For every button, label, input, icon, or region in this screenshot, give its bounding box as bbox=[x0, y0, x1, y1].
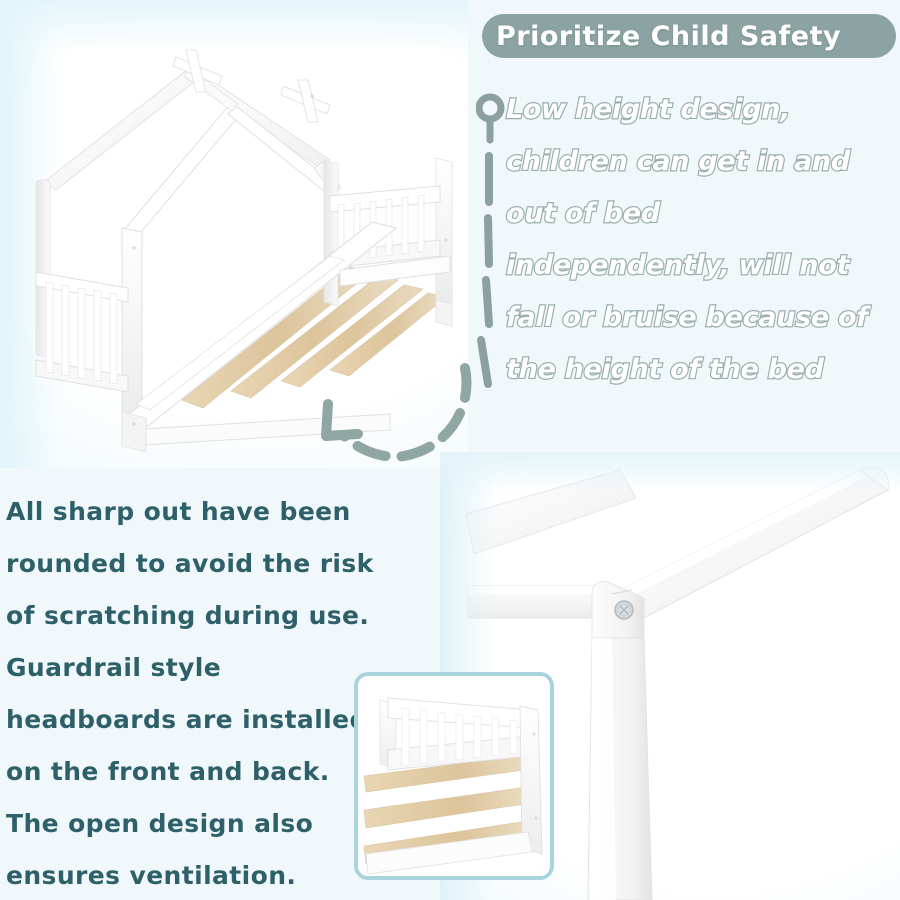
title-banner: Prioritize Child Safety bbox=[482, 14, 896, 58]
right-text-line: fall or bruise because of bbox=[506, 292, 898, 344]
right-text-line: Low height design, bbox=[506, 84, 898, 136]
left-text-line: of scratching during use. bbox=[6, 590, 366, 642]
left-text-line: The open design also bbox=[6, 798, 366, 850]
right-text-block: Low height design, children can get in a… bbox=[506, 84, 898, 396]
right-text-line: the height of the bed bbox=[506, 344, 898, 396]
left-text-line: Guardrail style bbox=[6, 642, 366, 694]
left-text-block: All sharp out have been rounded to avoid… bbox=[6, 486, 366, 900]
infographic-page: Prioritize Child Safety Low height desig… bbox=[0, 0, 900, 900]
left-text-line: headboards are installed bbox=[6, 694, 366, 746]
timeline-dashes bbox=[481, 156, 489, 384]
right-text-line: independently, will not bbox=[506, 240, 898, 292]
location-pin-icon bbox=[476, 92, 510, 422]
left-text-line: All sharp out have been bbox=[6, 486, 366, 538]
left-text-line: on the front and back. bbox=[6, 746, 366, 798]
left-text-line: ensures ventilation. bbox=[6, 850, 366, 900]
right-text-line: children can get in and bbox=[506, 136, 898, 188]
detail-top-tint bbox=[440, 452, 900, 492]
pin-timeline bbox=[476, 92, 510, 422]
guardrail-inset-thumbnail bbox=[354, 672, 554, 880]
left-guardrail bbox=[36, 272, 128, 392]
left-text-line: rounded to avoid the risk bbox=[6, 538, 366, 590]
page-title: Prioritize Child Safety bbox=[496, 21, 841, 52]
guardrail-inset-illustration bbox=[358, 676, 550, 876]
right-text-line: out of bed bbox=[506, 188, 898, 240]
